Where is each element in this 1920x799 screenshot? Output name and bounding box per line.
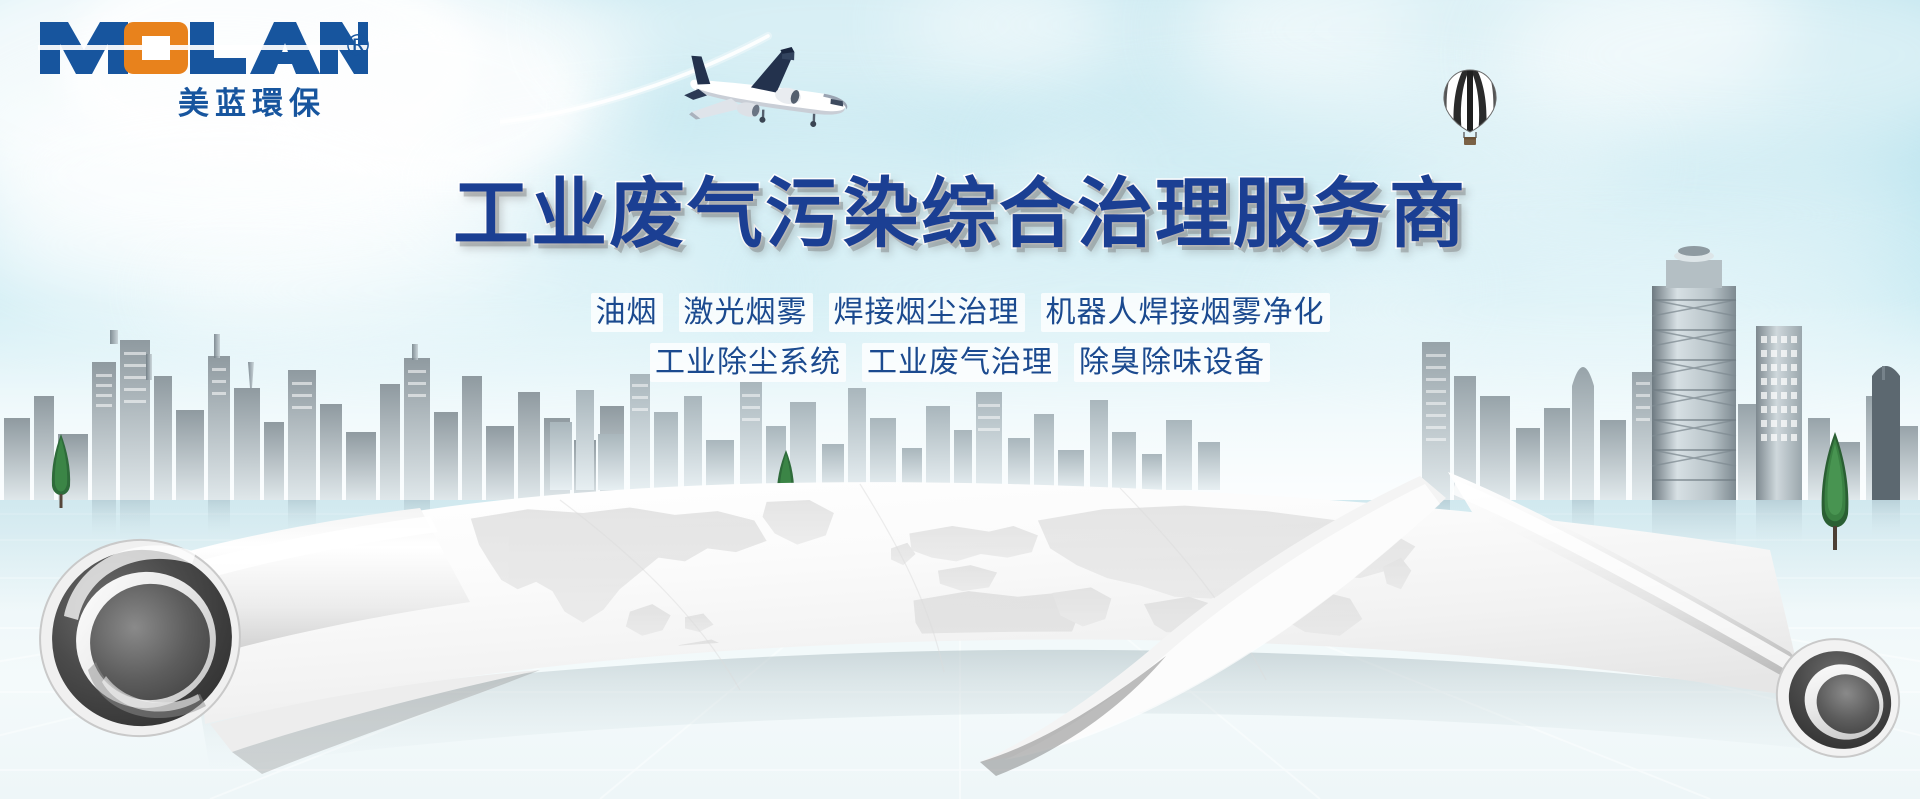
service-tag: 激光烟雾 [679,293,813,332]
company-logo[interactable]: 美蓝環保 ® [38,16,368,116]
page-title: 工业废气污染综合治理服务商 [0,152,1920,262]
service-tags-line-1: 油烟激光烟雾焊接烟尘治理机器人焊接烟雾净化 [0,293,1920,333]
logo-wordmark [38,16,368,78]
service-tag: 焊接烟尘治理 [829,293,1025,332]
service-tag: 除臭除味设备 [1074,343,1270,382]
service-tags-line-2: 工业除尘系统工业废气治理除臭除味设备 [0,343,1920,383]
hot-air-balloon-icon [1440,68,1500,146]
unrolled-paper-sheet [0,380,1920,799]
airplane-icon [672,38,862,148]
hero-banner: 美蓝環保 ® 工业废气污染综合治理服务商 油烟激光烟雾焊接烟尘治理机器人焊接烟雾… [0,0,1920,799]
logo-chinese-name: 美蓝環保 [178,78,326,123]
service-tag: 机器人焊接烟雾净化 [1041,293,1330,332]
service-tag: 油烟 [591,293,663,332]
service-tag: 工业废气治理 [862,343,1058,382]
service-tag: 工业除尘系统 [650,343,846,382]
trademark-icon: ® [343,32,373,62]
service-tags: 油烟激光烟雾焊接烟尘治理机器人焊接烟雾净化 工业除尘系统工业废气治理除臭除味设备 [0,293,1920,393]
